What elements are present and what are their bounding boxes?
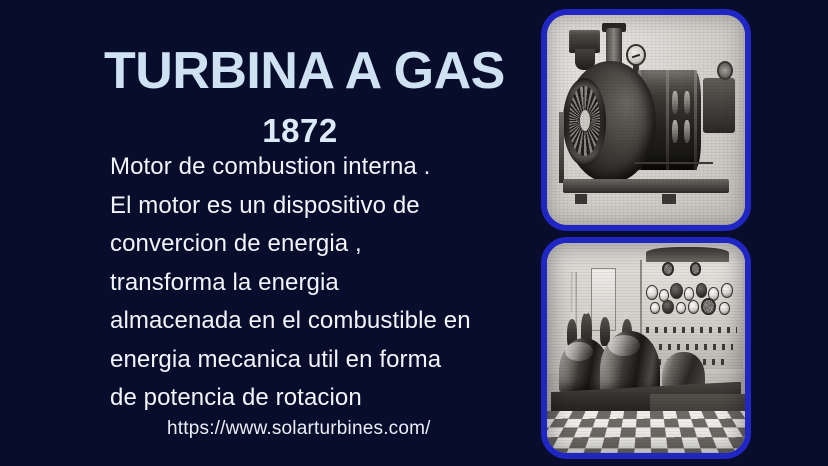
body-line: de potencia de rotacion bbox=[110, 379, 520, 418]
turbine-engraving-canvas bbox=[547, 15, 745, 225]
text-column: TURBINA A GAS 1872 Motor de combustion i… bbox=[0, 0, 530, 466]
body-line: transforma la energia bbox=[110, 264, 520, 303]
source-url-link[interactable]: https://www.solarturbines.com/ bbox=[167, 418, 431, 440]
body-line: El motor es un dispositivo de bbox=[110, 187, 520, 226]
year-subtitle: 1872 bbox=[0, 112, 600, 150]
page-title: TURBINA A GAS bbox=[104, 44, 504, 99]
powerhouse-photo-image bbox=[541, 237, 751, 459]
engraving-grain-texture bbox=[547, 15, 745, 225]
turbine-engraving-image bbox=[541, 9, 751, 231]
presentation-slide: TURBINA A GAS 1872 Motor de combustion i… bbox=[0, 0, 828, 466]
body-line: almacenada en el combustible en bbox=[110, 302, 520, 341]
photo-grain-texture bbox=[547, 243, 745, 453]
powerhouse-photo-canvas bbox=[547, 243, 745, 453]
body-line: Motor de combustion interna . bbox=[110, 148, 520, 187]
body-line: convercion de energia , bbox=[110, 225, 520, 264]
body-line: energia mecanica util en forma bbox=[110, 341, 520, 380]
body-paragraph: Motor de combustion interna . El motor e… bbox=[110, 148, 520, 418]
